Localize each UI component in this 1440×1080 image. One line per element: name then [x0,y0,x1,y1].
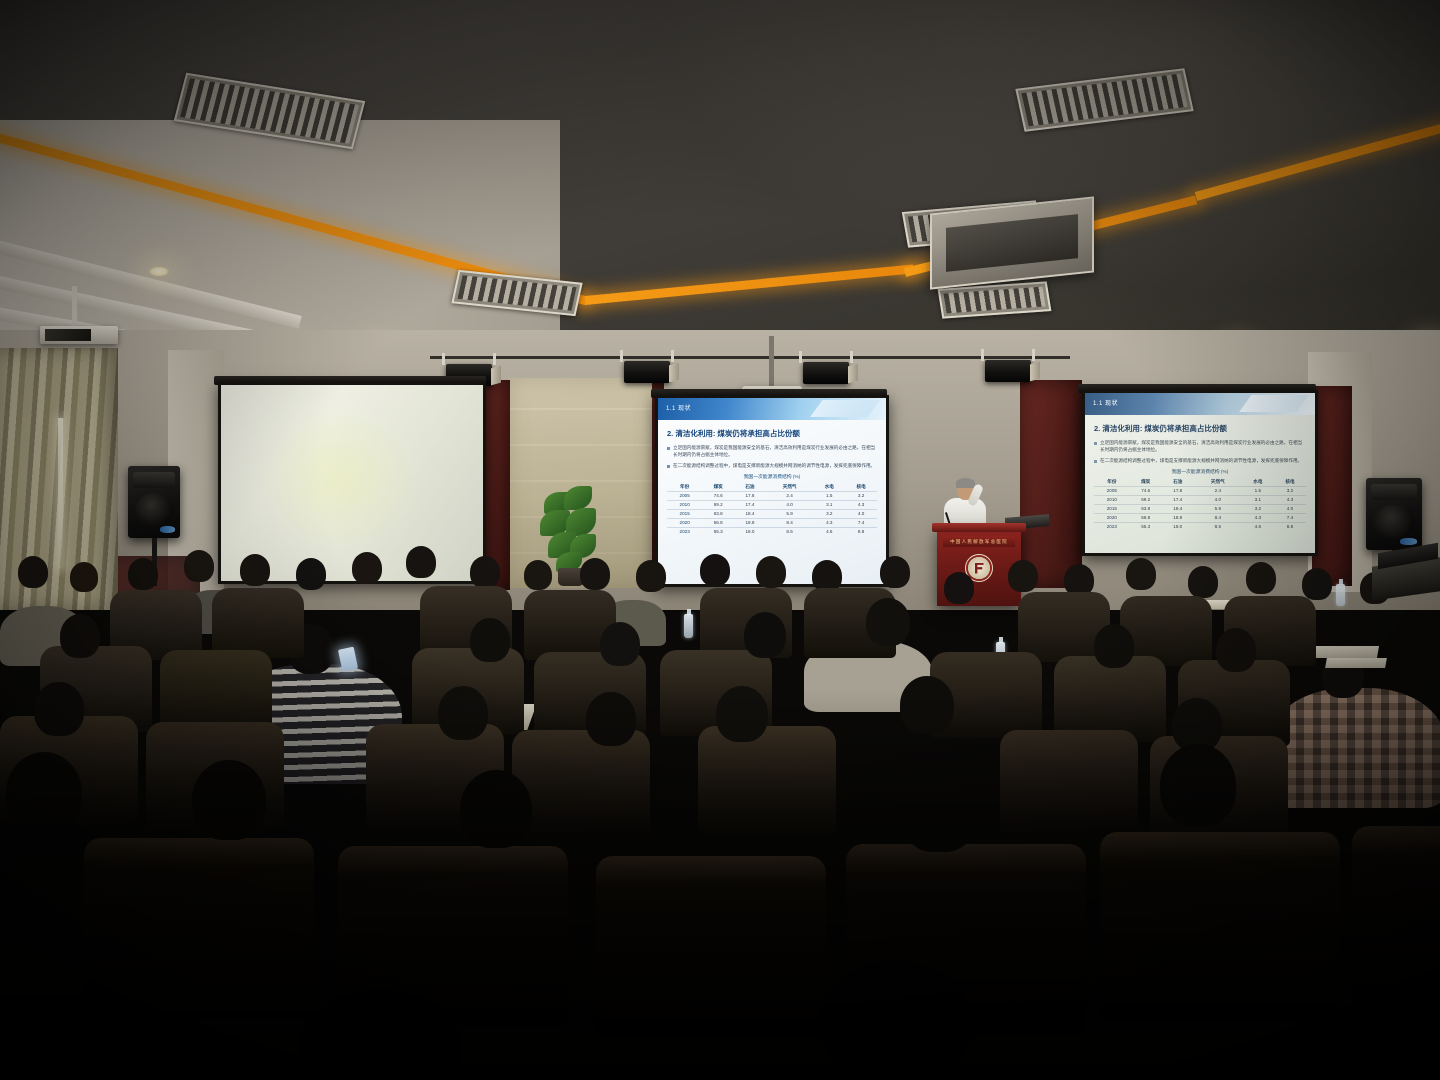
audience-head [1216,628,1256,672]
audience-head [756,556,786,588]
audience-head [18,556,48,588]
water-bottle [684,614,693,638]
audience-head [352,552,382,584]
audience-head [820,960,970,1080]
audience-head [460,770,532,848]
audience-head [438,686,488,740]
audience-head [6,752,82,834]
audience-head [716,686,768,742]
auditorium-seat [512,730,650,838]
audience-head [586,692,636,746]
handout-paper [1325,658,1387,668]
audience-rows [0,0,1440,1080]
auditorium-seat [698,726,836,834]
auditorium-seat [1352,826,1440,1016]
audience-head [128,558,158,590]
audience-head [470,618,510,662]
water-bottle [1336,584,1345,606]
auditorium-seat [212,588,304,658]
audience-head [580,558,610,590]
audience-plaid-shirt [1270,688,1440,808]
audience-head [944,572,974,604]
smartphone-screen [338,647,358,672]
audience-head [1094,624,1134,668]
audience-head [700,554,730,586]
audience-head [406,546,436,578]
audience-head [636,560,666,592]
audience-head [240,554,270,586]
audience-head [192,760,266,840]
audience-head [1160,744,1236,826]
audience-head [296,558,326,590]
audience-head [880,556,910,588]
audience-head [1246,562,1276,594]
audience-head [184,550,214,582]
audience-head [900,676,954,734]
auditorium-seat [1100,832,1340,1022]
audience-head [1188,566,1218,598]
audience-head [70,562,98,592]
lecture-hall-photo: 1.1 现状 2. 清洁化利用: 煤炭仍将承担高占比份额 立足国内能源禀赋，煤炭… [0,0,1440,1080]
audience-head [744,612,786,658]
audience-head [1126,558,1156,590]
audience-head [1302,568,1332,600]
auditorium-seat [84,838,314,1018]
audience-head [524,560,552,590]
audience-head [866,598,910,646]
audience-head [60,614,100,658]
audience-head [1008,560,1038,592]
audience-head [470,556,500,588]
audience-head [600,622,640,666]
auditorium-seat [596,856,826,1036]
auditorium-seat [1000,730,1138,838]
audience-head [34,682,84,736]
audience-head [900,768,978,852]
handout-paper [1311,646,1379,658]
